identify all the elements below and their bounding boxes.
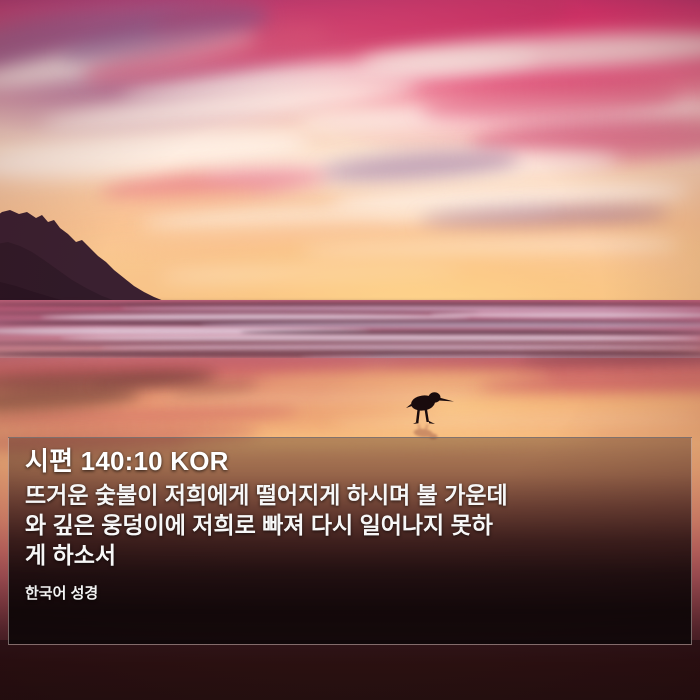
verse-source-label: 한국어 성경 [25, 585, 675, 603]
dark-sand-foreground [0, 640, 700, 700]
verse-image-card: 시편 140:10 KOR 뜨거운 숯불이 저희에게 떨어지게 하시며 불 가운… [0, 0, 700, 700]
verse-overlay-panel: 시편 140:10 KOR 뜨거운 숯불이 저희에게 떨어지게 하시며 불 가운… [8, 437, 692, 645]
verse-reference-title: 시편 140:10 KOR [25, 447, 675, 476]
verse-body-text: 뜨거운 숯불이 저희에게 떨어지게 하시며 불 가운데 와 깊은 웅덩이에 저희… [25, 481, 675, 571]
